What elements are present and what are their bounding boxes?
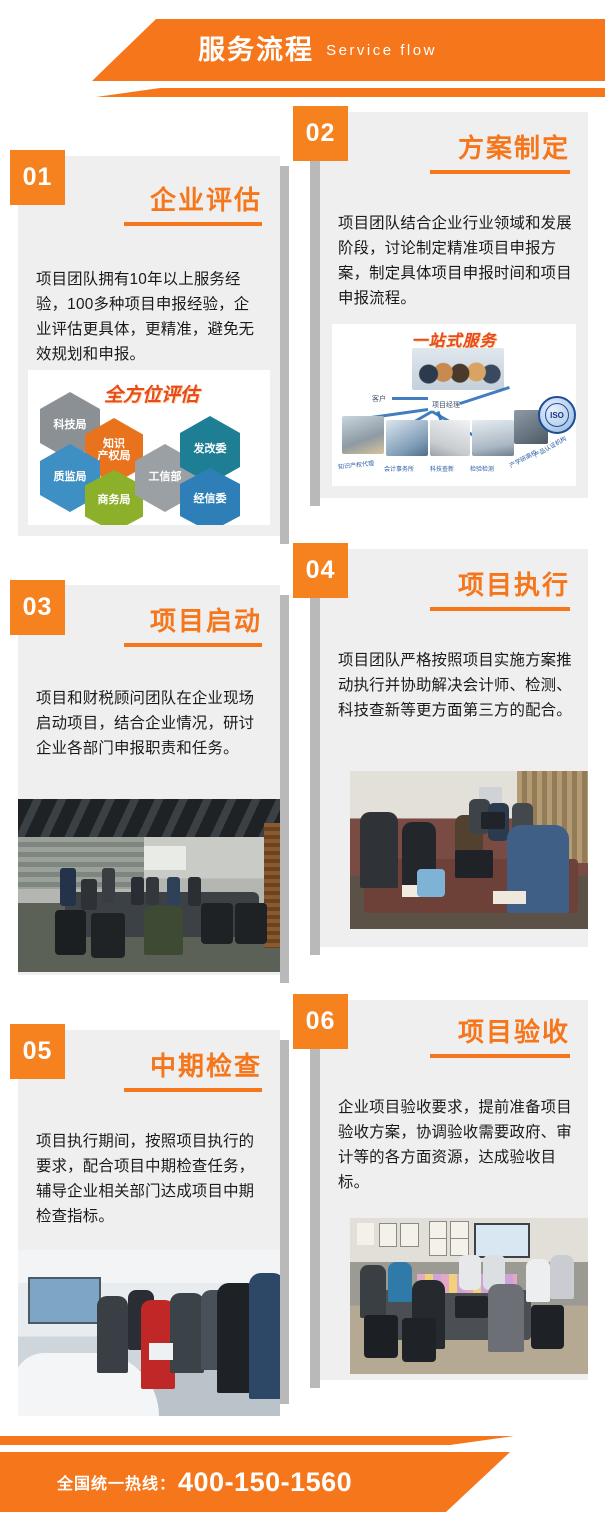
step-card-01-title: 企业评估	[36, 186, 262, 215]
hex-node-label: 商务局	[98, 495, 131, 507]
bag	[417, 869, 446, 897]
step-card-04-title: 项目执行	[338, 571, 570, 600]
footer-hotline: 全国统一热线： 400-150-1560	[0, 1452, 605, 1512]
step-badge-01-number: 01	[23, 163, 53, 192]
person	[188, 877, 201, 906]
step-badge-03-number: 03	[23, 593, 53, 622]
step-card-05-title: 中期检查	[36, 1052, 262, 1081]
person	[81, 879, 97, 910]
flow-arrow	[392, 397, 428, 400]
step-card-02: 方案制定 项目团队结合企业行业领域和发展阶段，讨论制定精准项目申报方案，制定具体…	[320, 112, 588, 498]
photo-project-execution-meeting	[350, 771, 588, 929]
document	[493, 891, 526, 904]
step-card-01: 企业评估 项目团队拥有10年以上服务经验，100多种项目申报经验，企业评估更具体…	[18, 156, 280, 536]
step-badge-03: 03	[10, 580, 65, 635]
title-underline	[124, 222, 262, 226]
person	[60, 868, 76, 906]
office-chair	[55, 910, 86, 955]
step-badge-02-number: 02	[306, 119, 336, 148]
iso-seal-icon: ISO	[538, 396, 576, 434]
card-shadow	[280, 595, 289, 983]
photo-site-inspection-visit	[18, 1250, 280, 1416]
person	[459, 1255, 480, 1289]
hex-node-label: 科技局	[54, 420, 87, 432]
step-card-04-body: 项目团队严格按照项目实施方案推动执行并协助解决会计师、检测、科技查新等更方面第三…	[338, 649, 572, 724]
office-chair	[235, 903, 266, 945]
person-blue-jacket	[249, 1273, 280, 1399]
person	[526, 1259, 550, 1303]
hex-evaluation-diagram: 全方位评估 科技局 知识 产权局 质监局 商务局 工信部 发改委 经信委	[28, 370, 270, 525]
photo-conference-room-meeting	[18, 799, 280, 972]
wall-monitor	[28, 1277, 100, 1324]
service-thumb-search	[430, 420, 470, 456]
service-thumb-testing	[472, 420, 514, 456]
hotline-label: 全国统一热线：	[57, 1470, 176, 1494]
step-card-01-body: 项目团队拥有10年以上服务经验，100多种项目申报经验，企业评估更具体，更精准，…	[36, 268, 264, 368]
card-shadow	[280, 1040, 289, 1404]
step-card-02-title: 方案制定	[338, 134, 570, 163]
step-badge-04-number: 04	[306, 556, 336, 585]
person	[97, 1296, 128, 1372]
node-project-manager: 项目经理	[432, 400, 460, 410]
reception-counter	[18, 1353, 159, 1416]
certificate-frame	[379, 1223, 398, 1247]
certificate-frame	[400, 1223, 419, 1247]
hex-node-label: 质监局	[54, 472, 87, 484]
card-shadow	[280, 166, 289, 544]
certificate-frame	[357, 1223, 374, 1245]
title-underline	[124, 1088, 262, 1092]
service-thumb-accounting	[386, 420, 428, 456]
laptop	[481, 812, 505, 829]
page-subtitle: Service flow	[326, 43, 437, 58]
step-card-05: 中期检查 项目执行期间，按照项目执行的要求，配合项目中期检查任务，辅导企业相关部…	[18, 1030, 280, 1396]
card-shadow	[310, 1010, 320, 1388]
step-card-02-body: 项目团队结合企业行业领域和发展阶段，讨论制定精准项目申报方案，制定具体项目申报时…	[338, 212, 572, 312]
certificate-frame	[450, 1221, 469, 1239]
person	[146, 877, 159, 905]
photo-acceptance-review-meeting	[350, 1218, 588, 1374]
office-chair	[91, 913, 125, 958]
person	[550, 1255, 574, 1299]
service-label: 检验检测	[470, 464, 494, 473]
service-label: 科技查新	[430, 464, 454, 473]
step-card-03-body: 项目和财税顾问团队在企业现场启动项目，结合企业情况，研讨企业各部门申报职责和任务…	[36, 687, 264, 762]
person	[170, 1293, 204, 1373]
hotline-number[interactable]: 400-150-1560	[178, 1467, 352, 1498]
service-label: 知识产权代理	[338, 458, 375, 471]
hex-node-label: 知识 产权局	[98, 439, 131, 462]
step-badge-05-number: 05	[23, 1037, 53, 1066]
office-chair	[531, 1305, 564, 1349]
hex-node-label: 经信委	[194, 494, 227, 506]
team-photo	[412, 348, 504, 390]
person	[167, 877, 180, 905]
step-card-06: 项目验收 企业项目验收要求，提前准备项目验收方案，协调验收需要政府、审计等的各方…	[320, 1000, 588, 1380]
step-badge-02: 02	[293, 106, 348, 161]
office-chair	[364, 1315, 397, 1359]
step-badge-06-number: 06	[306, 1007, 336, 1036]
card-shadow	[310, 559, 320, 955]
node-customer: 客户	[372, 394, 386, 404]
hex-node-label: 工信部	[149, 472, 182, 484]
card-shadow	[310, 122, 320, 506]
certificate-frame	[429, 1221, 448, 1239]
whiteboard	[144, 846, 186, 870]
step-card-04: 项目执行 项目团队严格按照项目实施方案推动执行并协助解决会计师、检测、科技查新等…	[320, 549, 588, 947]
step-card-03-title: 项目启动	[36, 607, 262, 636]
hex-node-label: 发改委	[194, 444, 227, 456]
title-underline	[430, 1054, 570, 1058]
footer-orange-rule	[0, 1436, 605, 1445]
ceiling-pattern	[18, 799, 280, 837]
page-title: 服务流程	[198, 37, 314, 64]
office-chair	[402, 1318, 435, 1362]
person	[102, 868, 115, 903]
brochure	[149, 1343, 173, 1360]
step-card-03: 项目启动 项目和财税顾问团队在企业现场启动项目，结合企业情况，研讨企业各部门申报…	[18, 585, 280, 975]
title-underline	[430, 607, 570, 611]
certificate-frame	[429, 1238, 448, 1256]
step-badge-05: 05	[10, 1024, 65, 1079]
service-thumb-ip	[342, 416, 384, 454]
person	[131, 877, 144, 905]
header-title-group: 服务流程 Service flow	[0, 19, 605, 81]
step-badge-01: 01	[10, 150, 65, 205]
step-card-06-title: 项目验收	[338, 1018, 570, 1047]
hex-diagram-title: 全方位评估	[104, 380, 199, 407]
step-badge-06: 06	[293, 994, 348, 1049]
header-orange-rule	[0, 88, 605, 97]
step-badge-04: 04	[293, 543, 348, 598]
laptop	[455, 850, 493, 878]
step-card-06-body: 企业项目验收要求，提前准备项目验收方案，协调验收需要政府、审计等的各方面资源，达…	[338, 1096, 572, 1196]
person-gray	[488, 1284, 524, 1353]
person-green-jacket	[144, 906, 183, 954]
person	[388, 1262, 412, 1303]
person	[360, 1265, 386, 1318]
laptop	[455, 1296, 488, 1318]
page-header: 服务流程 Service flow	[0, 0, 605, 120]
office-chair	[201, 903, 232, 945]
step-card-05-body: 项目执行期间，按照项目执行的要求，配合项目中期检查任务，辅导企业相关部门达成项目…	[36, 1130, 264, 1230]
one-stop-service-diagram: 一站式服务 客户 项目经理 ISO 知识产权代理 会计事务所 科技查新 检验检测…	[332, 324, 576, 486]
projection-screen	[474, 1223, 530, 1258]
iso-seal-label: ISO	[545, 403, 569, 427]
service-label: 会计事务所	[384, 464, 414, 473]
title-underline	[430, 170, 570, 174]
person	[360, 812, 398, 888]
certificate-frame	[450, 1238, 469, 1256]
title-underline	[124, 643, 262, 647]
